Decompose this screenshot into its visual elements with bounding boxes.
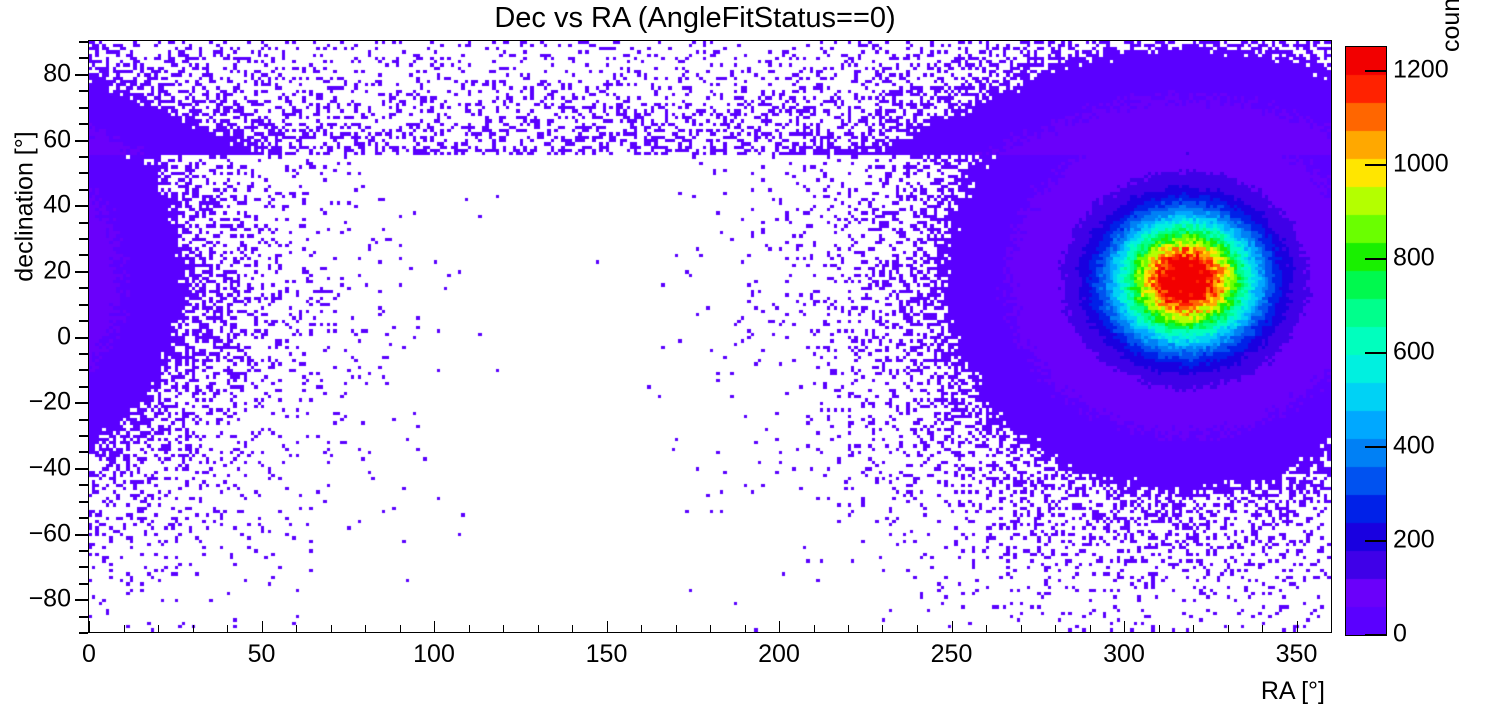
y-major-tick bbox=[75, 468, 88, 470]
y-tick-label: −80 bbox=[29, 585, 71, 614]
y-major-tick bbox=[75, 599, 88, 601]
x-tick-label: 50 bbox=[248, 640, 276, 669]
y-minor-tick bbox=[79, 583, 88, 585]
x-major-tick bbox=[262, 621, 263, 633]
y-minor-tick bbox=[79, 451, 88, 453]
x-minor-tick bbox=[676, 625, 677, 633]
y-minor-tick bbox=[79, 287, 88, 289]
x-minor-tick bbox=[193, 625, 194, 633]
page-title: Dec vs RA (AngleFitStatus==0) bbox=[0, 2, 1390, 35]
y-major-tick bbox=[75, 74, 88, 76]
y-major-tick bbox=[75, 402, 88, 404]
y-minor-tick bbox=[79, 41, 88, 43]
y-minor-tick bbox=[79, 90, 88, 92]
x-minor-tick bbox=[503, 625, 504, 633]
colorbar-title: count bbox=[1437, 0, 1466, 52]
x-minor-tick bbox=[745, 625, 746, 633]
y-major-tick bbox=[75, 534, 88, 536]
x-tick-label: 250 bbox=[931, 640, 973, 669]
y-tick-label: 40 bbox=[43, 191, 71, 220]
y-minor-tick bbox=[79, 353, 88, 355]
y-minor-tick bbox=[79, 419, 88, 421]
x-minor-tick bbox=[331, 625, 332, 633]
y-axis: declination [°] −80−60−40−20020406080 bbox=[0, 40, 90, 634]
x-minor-tick bbox=[641, 625, 642, 633]
y-minor-tick bbox=[79, 484, 88, 486]
x-major-tick bbox=[434, 621, 435, 633]
x-axis: RA [°] 050100150200250300350 bbox=[88, 633, 1333, 703]
colorbar-tick-label: 1000 bbox=[1393, 150, 1449, 179]
chart-root: Dec vs RA (AngleFitStatus==0) RA [°] 050… bbox=[0, 0, 1496, 722]
y-minor-tick bbox=[79, 386, 88, 388]
y-tick-label: 0 bbox=[57, 322, 71, 351]
y-major-tick bbox=[75, 337, 88, 339]
y-tick-label: 20 bbox=[43, 256, 71, 285]
colorbar-axis: 020040060080010001200 bbox=[1345, 46, 1495, 634]
y-minor-tick bbox=[79, 189, 88, 191]
x-minor-tick bbox=[124, 625, 125, 633]
y-minor-tick bbox=[79, 369, 88, 371]
x-tick-label: 0 bbox=[82, 640, 96, 669]
x-minor-tick bbox=[227, 625, 228, 633]
y-minor-tick bbox=[79, 566, 88, 568]
x-major-tick bbox=[952, 621, 953, 633]
x-minor-tick bbox=[917, 625, 918, 633]
colorbar-tick-label: 1200 bbox=[1393, 56, 1449, 85]
x-major-tick bbox=[1297, 621, 1298, 633]
x-minor-tick bbox=[848, 625, 849, 633]
x-minor-tick bbox=[296, 625, 297, 633]
y-major-tick bbox=[75, 271, 88, 273]
y-tick-label: 60 bbox=[43, 125, 71, 154]
y-minor-tick bbox=[79, 632, 88, 634]
x-minor-tick bbox=[365, 625, 366, 633]
y-axis-title: declination [°] bbox=[11, 107, 40, 307]
x-minor-tick bbox=[1090, 625, 1091, 633]
plot-area[interactable] bbox=[88, 40, 1332, 633]
x-minor-tick bbox=[1331, 625, 1332, 633]
heatmap-canvas bbox=[89, 41, 1331, 632]
y-minor-tick bbox=[79, 57, 88, 59]
colorbar-tick-label: 800 bbox=[1393, 244, 1435, 273]
y-minor-tick bbox=[79, 435, 88, 437]
colorbar-tick bbox=[1365, 164, 1387, 166]
x-minor-tick bbox=[158, 625, 159, 633]
x-tick-label: 200 bbox=[758, 640, 800, 669]
x-major-tick bbox=[779, 621, 780, 633]
y-major-tick bbox=[75, 140, 88, 142]
colorbar-tick bbox=[1365, 258, 1387, 260]
colorbar-tick-label: 0 bbox=[1393, 620, 1407, 649]
y-minor-tick bbox=[79, 616, 88, 618]
x-tick-label: 350 bbox=[1276, 640, 1318, 669]
y-minor-tick bbox=[79, 222, 88, 224]
y-tick-label: −20 bbox=[29, 388, 71, 417]
colorbar-tick bbox=[1365, 446, 1387, 448]
x-tick-label: 150 bbox=[586, 640, 628, 669]
colorbar-tick bbox=[1365, 352, 1387, 354]
colorbar-tick bbox=[1365, 70, 1387, 72]
x-minor-tick bbox=[1021, 625, 1022, 633]
x-minor-tick bbox=[1055, 625, 1056, 633]
colorbar-tick-label: 600 bbox=[1393, 338, 1435, 367]
y-minor-tick bbox=[79, 107, 88, 109]
y-tick-label: −60 bbox=[29, 519, 71, 548]
y-minor-tick bbox=[79, 550, 88, 552]
x-minor-tick bbox=[400, 625, 401, 633]
y-minor-tick bbox=[79, 123, 88, 125]
colorbar-tick bbox=[1365, 540, 1387, 542]
colorbar-tick-label: 400 bbox=[1393, 432, 1435, 461]
x-minor-tick bbox=[572, 625, 573, 633]
x-minor-tick bbox=[469, 625, 470, 633]
x-minor-tick bbox=[710, 625, 711, 633]
y-tick-label: 80 bbox=[43, 59, 71, 88]
y-tick-label: −40 bbox=[29, 453, 71, 482]
y-minor-tick bbox=[79, 501, 88, 503]
y-minor-tick bbox=[79, 254, 88, 256]
y-minor-tick bbox=[79, 172, 88, 174]
x-minor-tick bbox=[1228, 625, 1229, 633]
x-tick-label: 100 bbox=[413, 640, 455, 669]
y-minor-tick bbox=[79, 238, 88, 240]
x-minor-tick bbox=[1159, 625, 1160, 633]
x-major-tick bbox=[607, 621, 608, 633]
x-tick-label: 300 bbox=[1103, 640, 1145, 669]
x-minor-tick bbox=[882, 625, 883, 633]
x-major-tick bbox=[1124, 621, 1125, 633]
colorbar-tick-label: 200 bbox=[1393, 526, 1435, 555]
y-minor-tick bbox=[79, 156, 88, 158]
x-minor-tick bbox=[1262, 625, 1263, 633]
y-minor-tick bbox=[79, 304, 88, 306]
y-minor-tick bbox=[79, 517, 88, 519]
x-minor-tick bbox=[986, 625, 987, 633]
x-minor-tick bbox=[1193, 625, 1194, 633]
x-axis-title: RA [°] bbox=[1261, 677, 1325, 706]
x-minor-tick bbox=[814, 625, 815, 633]
colorbar-tick bbox=[1365, 634, 1387, 636]
x-minor-tick bbox=[538, 625, 539, 633]
y-major-tick bbox=[75, 205, 88, 207]
y-minor-tick bbox=[79, 320, 88, 322]
